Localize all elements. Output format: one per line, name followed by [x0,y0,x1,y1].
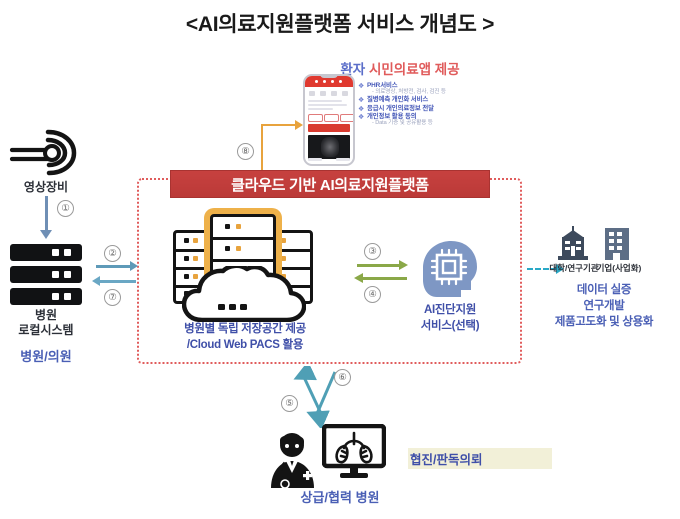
flow-arrow-3-line [357,264,401,267]
imaging-device-icon [8,128,80,176]
feature-title: 개인정보 활용 동의 [367,113,498,120]
diamond-bullet-icon: ❖ [358,97,364,104]
flow-number-5: ⑤ [281,395,298,412]
flow-arrow-1-head-icon [40,230,52,239]
flow-arrow-4-line [363,277,407,280]
cloud-storage-label: 병원별 독립 저장공간 제공 /Cloud Web PACS 활용 [140,322,350,353]
feature-subtitle: - Data 기증 및 공유활용 등 [367,120,498,126]
phone-chip-row [308,114,350,121]
flow-number-8: ⑧ [237,143,254,160]
flow-number-4: ④ [364,286,381,303]
phone-red-banner [308,124,350,132]
research-desc-line1: 데이터 실증 [528,282,680,298]
diamond-bullet-icon: ❖ [358,83,364,90]
phone-tab-row [307,89,351,98]
feature-title: 질병예측 개인화 서비스 [367,96,498,103]
patient-app-heading-part2: 시민의료앱 제공 [369,62,460,77]
flow-number-6: ⑥ [334,369,351,386]
list-item: ❖ 응급시 개인의료정보 전달 [358,105,498,112]
phone-text-lines [308,100,350,112]
flow-arrow-8-head-icon [295,120,303,130]
feature-title: 응급시 개인의료정보 전달 [367,105,498,112]
platform-banner: 클라우드 기반 AI의료지원플랫폼 [170,170,490,198]
cloud-shape-icon [182,266,306,322]
research-desc-line2: 연구개발 [528,298,680,314]
list-item: ❖ PHR서비스 - 의료영상, 처방전, 검사, 검진 등 [358,82,498,95]
hospital-local-system-icon [10,244,82,306]
flow-arrow-3-head-icon [399,260,408,270]
hospital-local-system-label: 병원 로컬시스템 [0,308,92,338]
hospital-group-label: 병원/의원 [0,346,92,365]
ai-diagnosis-label-line2: 서비스(선택) [395,319,505,335]
server-row [10,244,82,261]
diamond-bullet-icon: ❖ [358,114,364,121]
flow-number-2: ② [104,245,121,262]
flow-number-7: ⑦ [104,289,121,306]
flow-arrow-4-head-icon [354,273,363,283]
company-label: 기업(사업화) [588,262,650,274]
flow-arrow-7-line [100,280,136,283]
research-description: 데이터 실증 연구개발 제품고도화 및 상용화 [528,282,680,330]
phone-xray-image [308,135,350,159]
phone-footer-lines [308,158,350,161]
flow-number-1: ① [57,200,74,217]
server-row [10,288,82,305]
ai-brain-chip-icon [415,238,483,300]
university-building-icon [556,226,590,260]
diamond-bullet-icon: ❖ [358,106,364,113]
flow-arrow-2-line [96,265,132,268]
flow-number-3: ③ [364,243,381,260]
cloud-storage-label-line1: 병원별 독립 저장공간 제공 [140,322,350,338]
ai-diagnosis-label: AI진단지원 서비스(선택) [395,303,505,334]
list-item: ❖ 질병예측 개인화 서비스 [358,96,498,103]
cloud-storage-label-line2: /Cloud Web PACS 활용 [140,338,350,354]
research-desc-line3: 제품고도화 및 상용화 [528,314,680,330]
flow-arrow-2-head-icon [130,261,138,271]
imaging-device-label: 영상장비 [0,178,92,195]
local-system-label-line2: 로컬시스템 [0,323,92,338]
feature-subtitle: - 의료영상, 처방전, 검사, 검진 등 [367,89,498,95]
flow-arrow-1-line [45,196,48,232]
ai-diagnosis-label-line1: AI진단지원 [395,303,505,319]
flow-arrow-7-head-icon [92,276,100,286]
partner-hospital-label: 상급/협력 병원 [240,487,440,506]
diagram-canvas: <AI의료지원플랫폼 서비스 개념도 > 환자 시민의료앱 제공 [0,0,680,519]
consultation-request-label: 협진/판독의뢰 [408,448,552,469]
citizen-medical-app-phone [303,74,355,166]
flow-arrow-8-horizontal [261,124,297,126]
doctor-icon [266,430,322,488]
phone-notch [320,74,338,78]
lung-imaging-monitor-icon [322,424,386,480]
patient-app-feature-list: ❖ PHR서비스 - 의료영상, 처방전, 검사, 검진 등 ❖ 질병예측 개인… [358,82,498,127]
phone-body [303,74,355,166]
page-title: <AI의료지원플랫폼 서비스 개념도 > [0,8,680,38]
server-row [10,266,82,283]
cloud-storage-icon [168,210,318,322]
company-building-icon [602,226,632,260]
list-item: ❖ 개인정보 활용 동의 - Data 기증 및 공유활용 등 [358,113,498,126]
local-system-label-line1: 병원 [0,308,92,323]
